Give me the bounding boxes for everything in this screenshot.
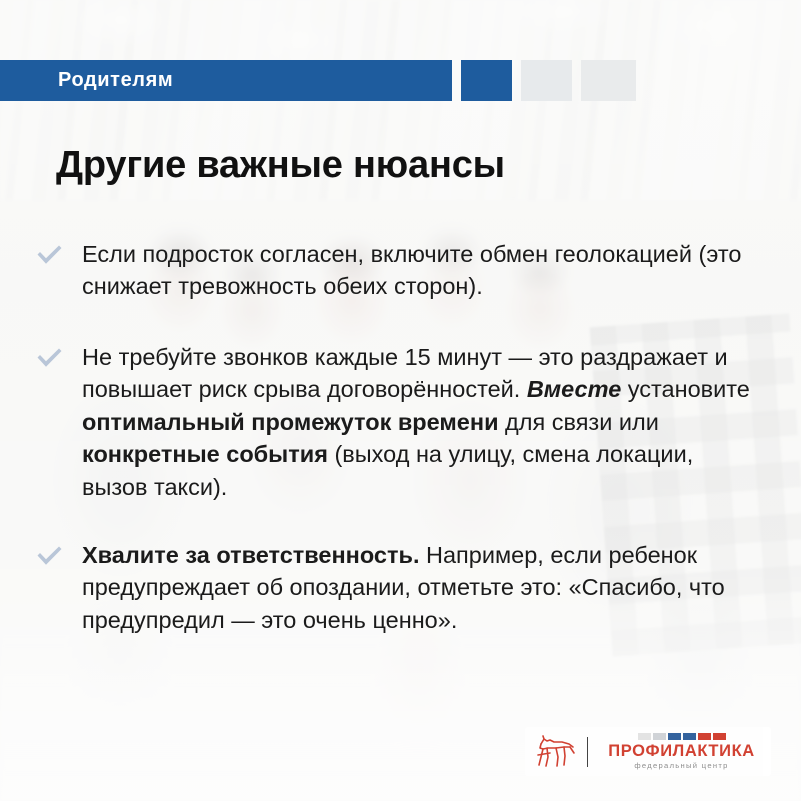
logo-color-bars [638, 733, 726, 740]
logo-color-bar [713, 733, 726, 740]
logo-color-bar [683, 733, 696, 740]
page-title: Другие важные нюансы [56, 144, 505, 187]
list-item: Хвалите за ответственность. Например, ес… [36, 539, 756, 636]
horse-icon [525, 735, 587, 769]
slide-root: Родителям Другие важные нюансы Если подр… [0, 0, 801, 801]
header-banner-bar: Родителям [0, 60, 452, 101]
check-icon [36, 545, 66, 567]
logo-name: ПРОФИЛАКТИКА [608, 743, 755, 760]
list-item-text: Если подросток согласен, включите обмен … [66, 238, 756, 303]
check-icon [36, 347, 66, 369]
logo-color-bar [638, 733, 651, 740]
logo-color-bar [668, 733, 681, 740]
header-block-blue [461, 60, 512, 101]
header-banner: Родителям [0, 60, 636, 101]
list-item: Не требуйте звонков каждые 15 минут — эт… [36, 341, 756, 503]
list-item: Если подросток согласен, включите обмен … [36, 238, 756, 303]
list-item-text: Хвалите за ответственность. Например, ес… [66, 539, 756, 636]
logo: ПРОФИЛАКТИКА федеральный центр [525, 727, 771, 776]
logo-color-bar [653, 733, 666, 740]
bullet-list: Если подросток согласен, включите обмен … [36, 238, 756, 666]
header-block-grey-2 [581, 60, 636, 101]
list-item-text: Не требуйте звонков каждые 15 минут — эт… [66, 341, 756, 503]
header-block-grey-1 [521, 60, 572, 101]
logo-subtitle: федеральный центр [634, 762, 728, 770]
header-banner-label: Родителям [0, 69, 173, 92]
logo-color-bar [698, 733, 711, 740]
check-icon [36, 244, 66, 266]
logo-text-block: ПРОФИЛАКТИКА федеральный центр [588, 733, 771, 770]
